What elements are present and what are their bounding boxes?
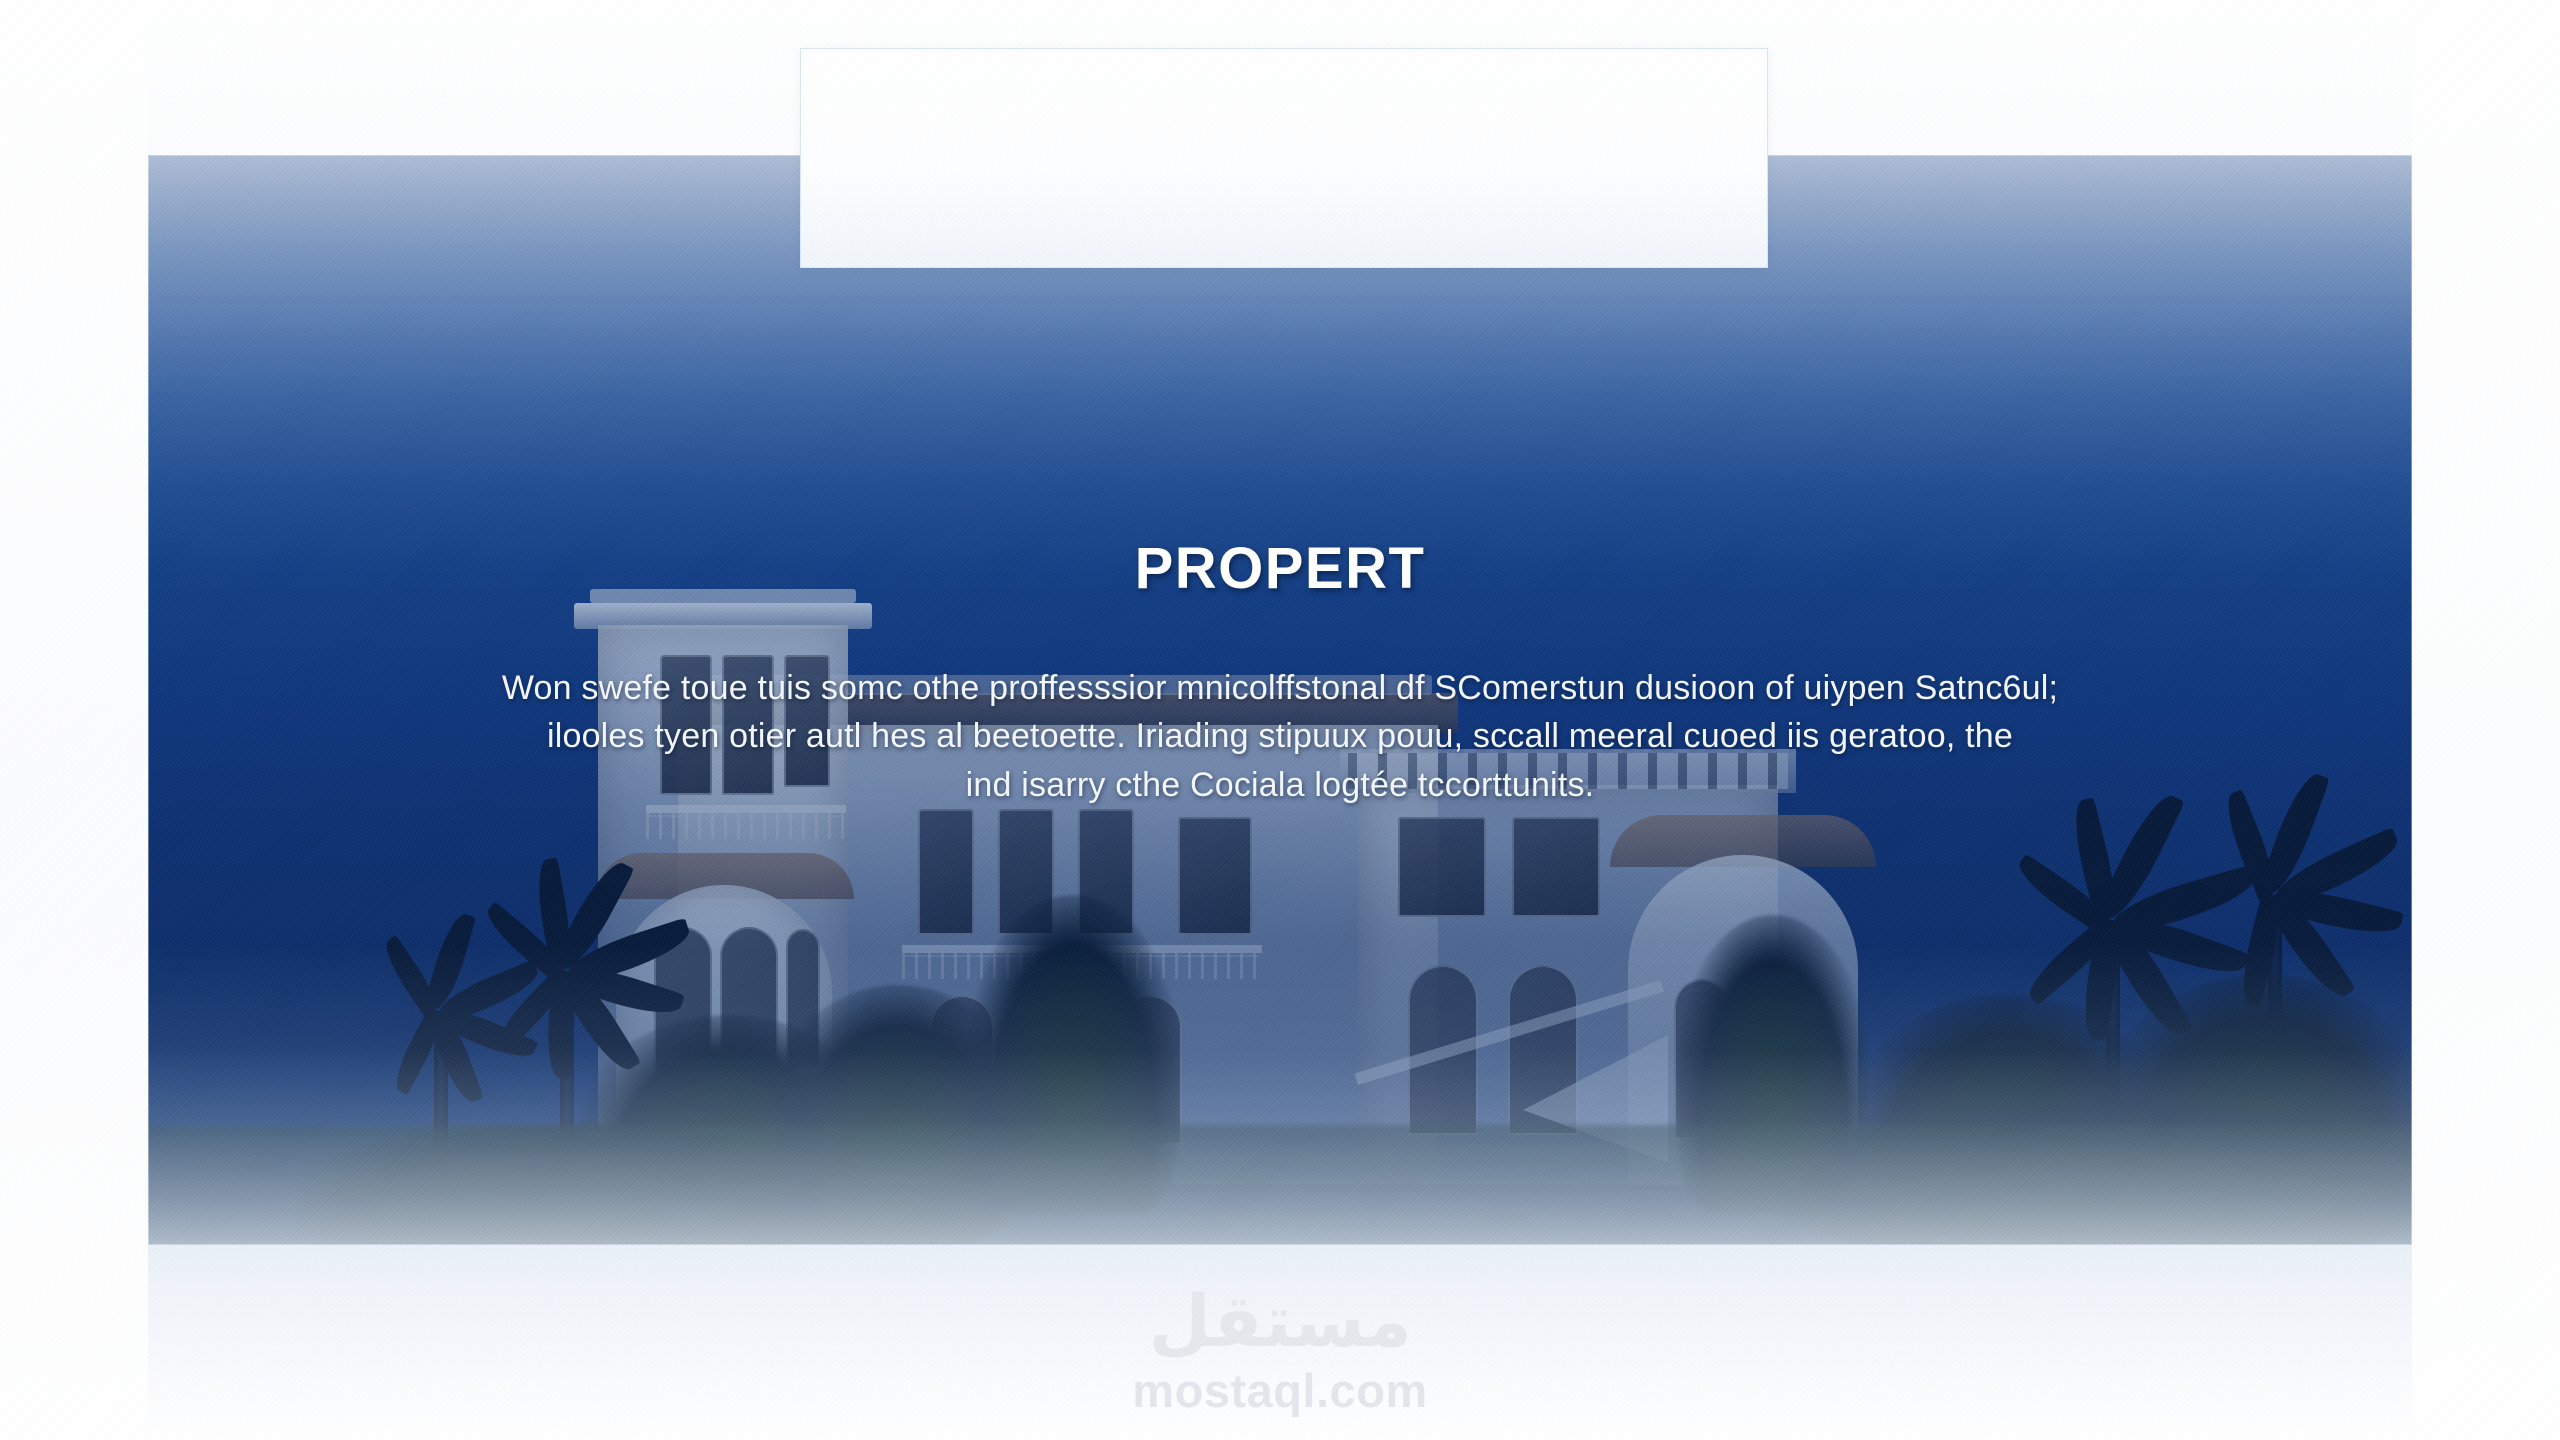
hero-image-panel: PROPERT Won swefe toue tuis somc othe pr… [148, 155, 2412, 1245]
page-title: PROPERT [148, 535, 2412, 602]
bottom-white-band [0, 1245, 2560, 1440]
right-margin-strip [2412, 0, 2560, 1440]
hero-text-block: PROPERT Won swefe toue tuis somc othe pr… [148, 535, 2412, 809]
body-line-2: ilooles tyen otier autl hes al beetoette… [410, 712, 2150, 760]
presentation-slide: PROPERT Won swefe toue tuis somc othe pr… [0, 0, 2560, 1440]
top-white-card [800, 48, 1768, 268]
body-line-1: Won swefe toue tuis somc othe proffesssi… [410, 664, 2150, 712]
left-margin-strip [0, 0, 148, 1440]
body-line-3: ind isarry cthe Cociala logtée tccorttun… [410, 761, 2150, 809]
hero-body-text: Won swefe toue tuis somc othe proffesssi… [410, 664, 2150, 809]
